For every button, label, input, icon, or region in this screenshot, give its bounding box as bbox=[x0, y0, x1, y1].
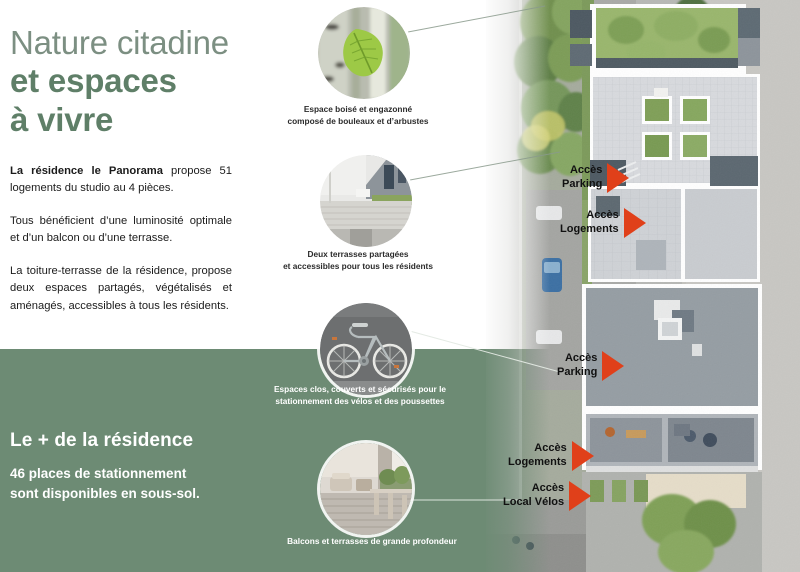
title-line-2: et espaces bbox=[10, 62, 350, 100]
access-label-1-line-2: Parking bbox=[562, 178, 602, 192]
paragraph-3: La toiture-terrasse de la résidence, pro… bbox=[10, 263, 232, 315]
access-label-1-line-1: Accès bbox=[562, 164, 602, 178]
body-copy: La résidence le Panorama propose 51 loge… bbox=[10, 163, 232, 330]
access-label-4-line-1: Accès bbox=[508, 442, 567, 456]
highlight-text: 46 places de stationnement sont disponib… bbox=[10, 464, 330, 503]
arrow-right-icon-3 bbox=[602, 351, 624, 381]
arrow-right-icon-5 bbox=[569, 481, 591, 511]
terrace-photo bbox=[320, 155, 412, 247]
paragraph-1: La résidence le Panorama propose 51 loge… bbox=[10, 163, 232, 198]
access-marker-local-velos[interactable]: Accès Local Vélos bbox=[503, 481, 591, 511]
leaf-photo bbox=[318, 7, 410, 99]
access-marker-logements-2[interactable]: Accès Logements bbox=[508, 441, 594, 471]
access-marker-parking-2[interactable]: Accès Parking bbox=[557, 351, 624, 381]
access-label-1: Accès Parking bbox=[562, 164, 602, 192]
paragraph-1-bold: La résidence le Panorama bbox=[10, 165, 163, 177]
access-label-5-line-1: Accès bbox=[503, 482, 564, 496]
bicycle-photo-graphic bbox=[320, 303, 412, 395]
arrow-right-icon-1 bbox=[607, 163, 629, 193]
terrace-photo-graphic bbox=[320, 155, 412, 247]
feature-caption-3-line-1: Espaces clos, couverts et sécurisés pour… bbox=[250, 383, 470, 395]
access-marker-parking-1[interactable]: Accès Parking bbox=[562, 163, 629, 193]
brochure-page: Nature citadine et espaces à vivre La ré… bbox=[0, 0, 800, 572]
feature-caption-2-line-2: et accessibles pour tous les résidents bbox=[248, 260, 468, 272]
balcony-photo-graphic bbox=[320, 443, 412, 535]
access-label-2-line-2: Logements bbox=[560, 223, 619, 237]
arrow-right-icon-2 bbox=[624, 208, 646, 238]
highlight-heading: Le + de la résidence bbox=[10, 430, 350, 452]
access-label-2: Accès Logements bbox=[560, 209, 619, 237]
balcony-photo bbox=[320, 443, 412, 535]
paragraph-2: Tous bénéficient d’une luminosité optima… bbox=[10, 213, 232, 248]
access-label-3-line-1: Accès bbox=[557, 352, 597, 366]
title-line-1: Nature citadine bbox=[10, 24, 350, 62]
feature-caption-2: Deux terrasses partagées et accessibles … bbox=[248, 248, 468, 273]
access-label-4-line-2: Logements bbox=[508, 456, 567, 470]
feature-caption-4-line-1: Balcons et terrasses de grande profondeu… bbox=[262, 535, 482, 547]
feature-caption-4: Balcons et terrasses de grande profondeu… bbox=[262, 535, 482, 547]
feature-caption-3: Espaces clos, couverts et sécurisés pour… bbox=[250, 383, 470, 408]
access-label-3-line-2: Parking bbox=[557, 366, 597, 380]
access-marker-logements-1[interactable]: Accès Logements bbox=[560, 208, 646, 238]
leaf-photo-graphic bbox=[318, 7, 410, 99]
feature-caption-1: Espace boisé et engazonné composé de bou… bbox=[248, 103, 468, 128]
access-label-5-line-2: Local Vélos bbox=[503, 496, 564, 510]
access-label-4: Accès Logements bbox=[508, 442, 567, 470]
arrow-right-icon-4 bbox=[572, 441, 594, 471]
bicycle-photo bbox=[320, 303, 412, 395]
access-label-3: Accès Parking bbox=[557, 352, 597, 380]
feature-caption-1-line-1: Espace boisé et engazonné bbox=[248, 103, 468, 115]
feature-caption-2-line-1: Deux terrasses partagées bbox=[248, 248, 468, 260]
feature-caption-1-line-2: composé de bouleaux et d’arbustes bbox=[248, 115, 468, 127]
access-label-5: Accès Local Vélos bbox=[503, 482, 564, 510]
access-label-2-line-1: Accès bbox=[560, 209, 619, 223]
feature-caption-3-line-2: stationnement des vélos et des poussette… bbox=[250, 395, 470, 407]
